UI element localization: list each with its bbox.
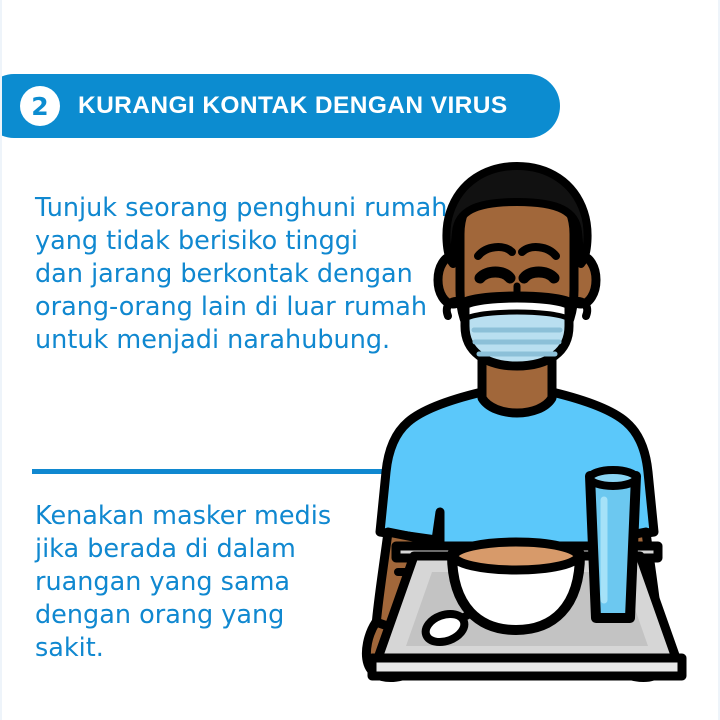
tray-front-edge [372,658,682,676]
medical-mask-group [447,296,587,366]
head-group [438,166,596,413]
water-surface [590,470,636,486]
poster-page: 2 KURANGI KONTAK DENGAN VIRUS Tunjuk seo… [0,0,720,720]
left-eye [480,272,510,278]
step-banner: 2 KURANGI KONTAK DENGAN VIRUS [0,74,560,138]
glass-of-water [590,470,636,618]
banner-title: KURANGI KONTAK DENGAN VIRUS [78,92,508,120]
glass [590,476,636,618]
right-eye [524,272,554,278]
step-number-badge: 2 [20,86,60,126]
illustration-man-with-mask-and-tray [332,160,720,690]
soup [454,542,578,570]
bowl-of-soup [452,542,580,630]
